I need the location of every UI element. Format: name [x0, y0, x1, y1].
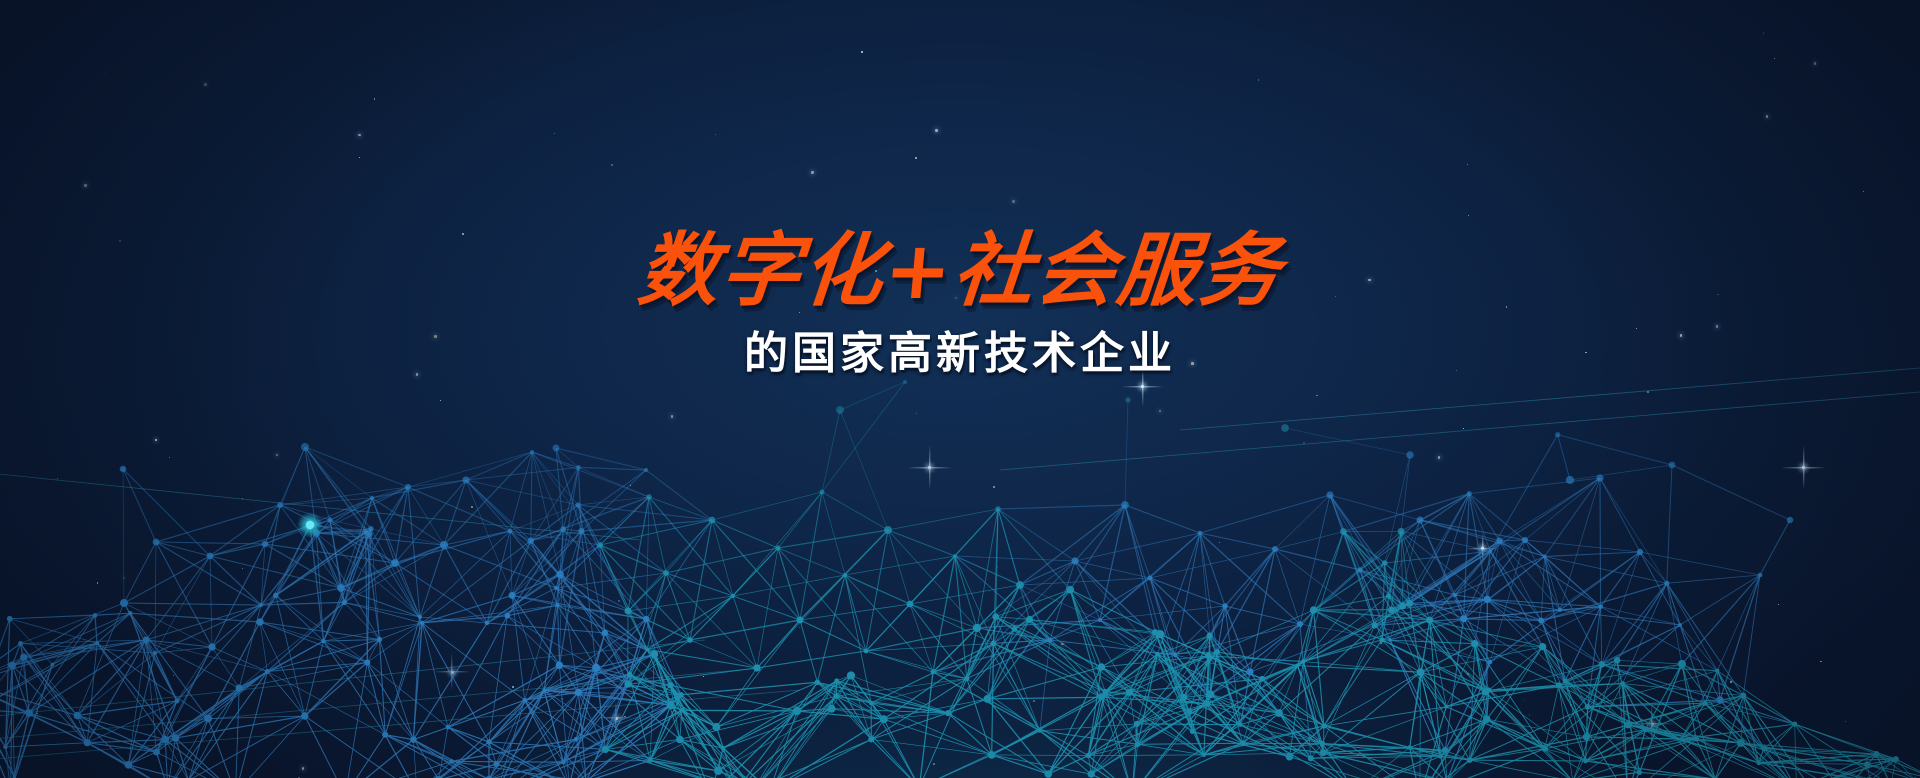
page-subtitle: 的国家高新技术企业: [0, 330, 1920, 378]
page-title: 数字化+社会服务: [0, 228, 1920, 314]
hero-text-block: 数字化+社会服务 的国家高新技术企业: [0, 228, 1920, 379]
hero-banner: 数字化+社会服务 的国家高新技术企业: [0, 0, 1920, 778]
background-gradient: [0, 0, 1920, 778]
